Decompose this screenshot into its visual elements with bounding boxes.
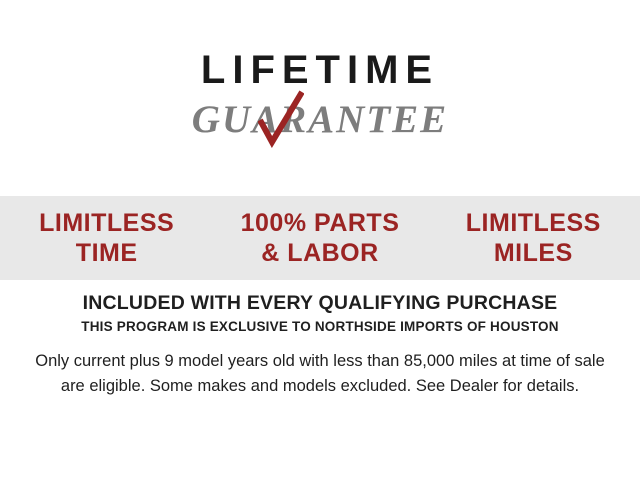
benefit-line1: 100% PARTS	[241, 209, 400, 237]
benefit-line1: LIMITLESS	[39, 209, 174, 237]
benefit-line2: MILES	[427, 238, 640, 268]
logo-title-guarantee: GUARANTEE	[0, 96, 640, 144]
logo-block: LIFETIME GUARANTEE	[0, 48, 640, 144]
benefit-item-parts-labor: 100% PARTS & LABOR	[213, 208, 426, 268]
benefit-line2: TIME	[0, 238, 213, 268]
fine-print-subheadline: THIS PROGRAM IS EXCLUSIVE TO NORTHSIDE I…	[0, 318, 640, 336]
fine-print-block: INCLUDED WITH EVERY QUALIFYING PURCHASE …	[0, 292, 640, 399]
fine-print-body: Only current plus 9 model years old with…	[0, 349, 640, 399]
logo-title-lifetime: LIFETIME	[201, 48, 439, 92]
benefit-line2: & LABOR	[213, 238, 426, 268]
benefit-item-time: LIMITLESS TIME	[0, 208, 213, 268]
lifetime-guarantee-ad: LIFETIME GUARANTEE LIMITLESS TIME 100% P…	[0, 0, 640, 480]
benefits-band: LIMITLESS TIME 100% PARTS & LABOR LIMITL…	[0, 196, 640, 280]
benefit-line1: LIMITLESS	[466, 209, 601, 237]
fine-print-headline: INCLUDED WITH EVERY QUALIFYING PURCHASE	[0, 292, 640, 314]
benefit-item-miles: LIMITLESS MILES	[427, 208, 640, 268]
